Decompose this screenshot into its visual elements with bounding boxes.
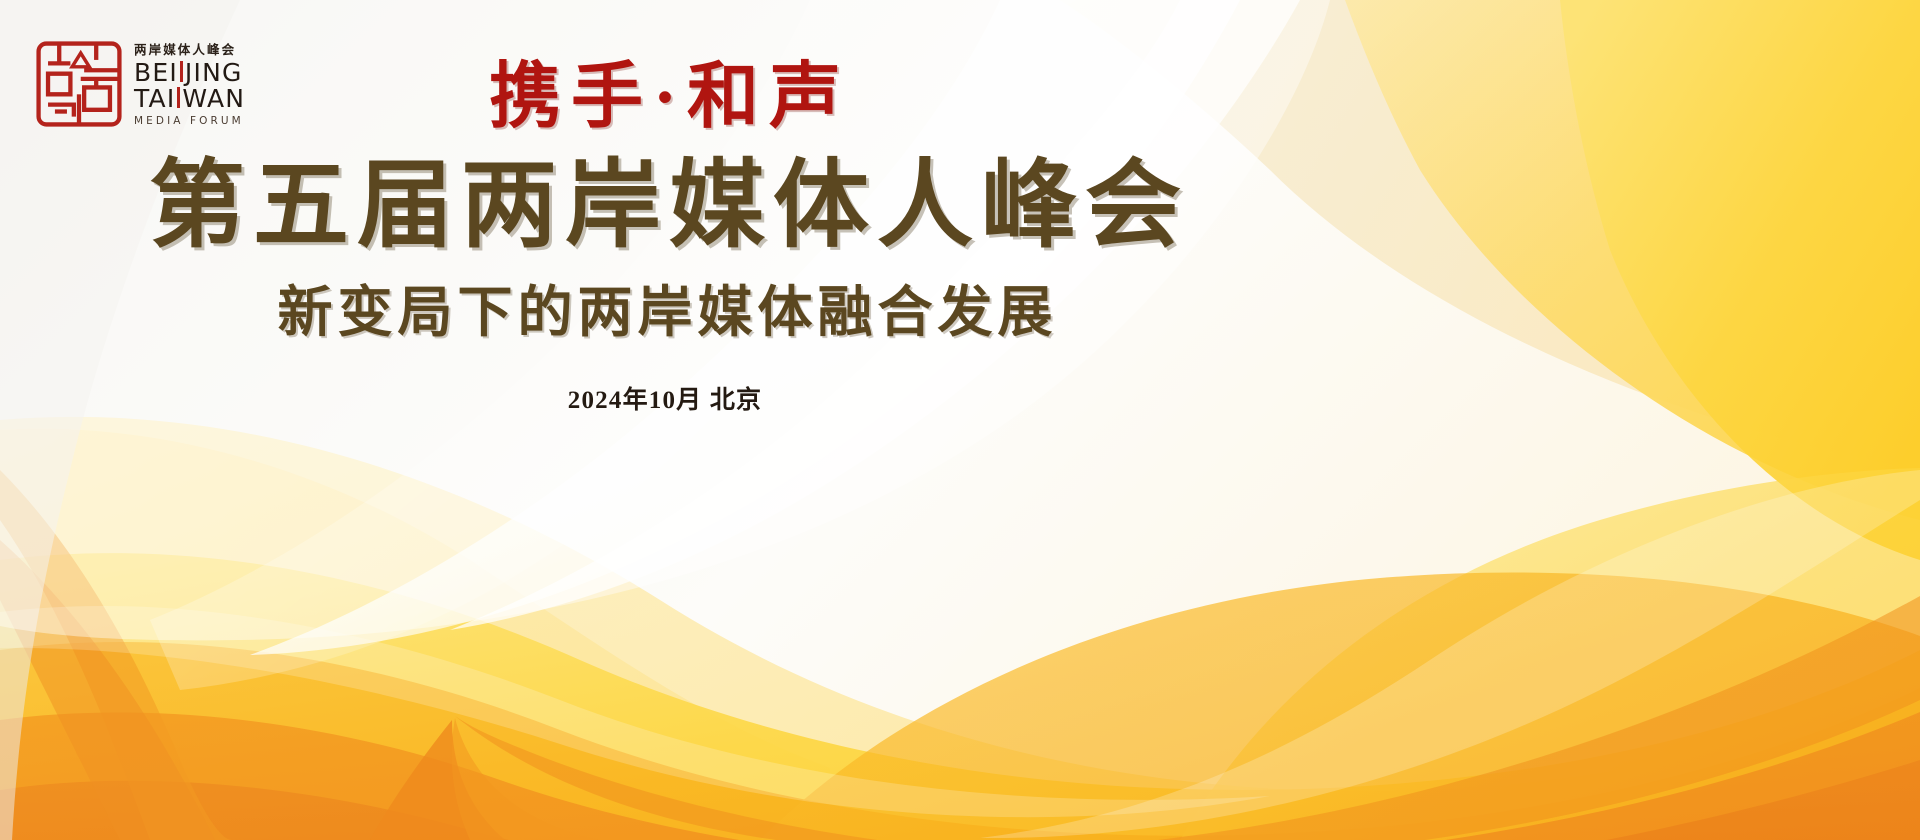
logo-chinese-name: 两岸媒体人峰会	[134, 44, 266, 57]
logo-latin-wan: WAN	[182, 86, 245, 112]
logo-divider-bar-1	[180, 61, 183, 82]
seal-square-emblem-icon	[36, 41, 122, 127]
logo-latin-subtitle: MEDIA FORUM	[134, 116, 266, 127]
logo-latin-line-taiwan: TAI WAN	[134, 86, 266, 112]
logo-latin-line-beijing: BEI JING	[134, 60, 266, 86]
logo-wordmark: 两岸媒体人峰会 BEI JING TAI WAN MEDIA FORUM	[134, 42, 266, 126]
logo-latin-bei: BEI	[134, 60, 178, 86]
logo-latin-jing: JING	[185, 60, 243, 86]
banner-canvas: 两岸媒体人峰会 BEI JING TAI WAN MEDIA FORUM 携手·…	[0, 0, 1920, 840]
background-decorative-waves	[0, 0, 1920, 840]
logo-latin-tai: TAI	[134, 86, 175, 112]
logo-divider-bar-2	[177, 87, 180, 108]
forum-logo: 两岸媒体人峰会 BEI JING TAI WAN MEDIA FORUM	[36, 28, 266, 140]
